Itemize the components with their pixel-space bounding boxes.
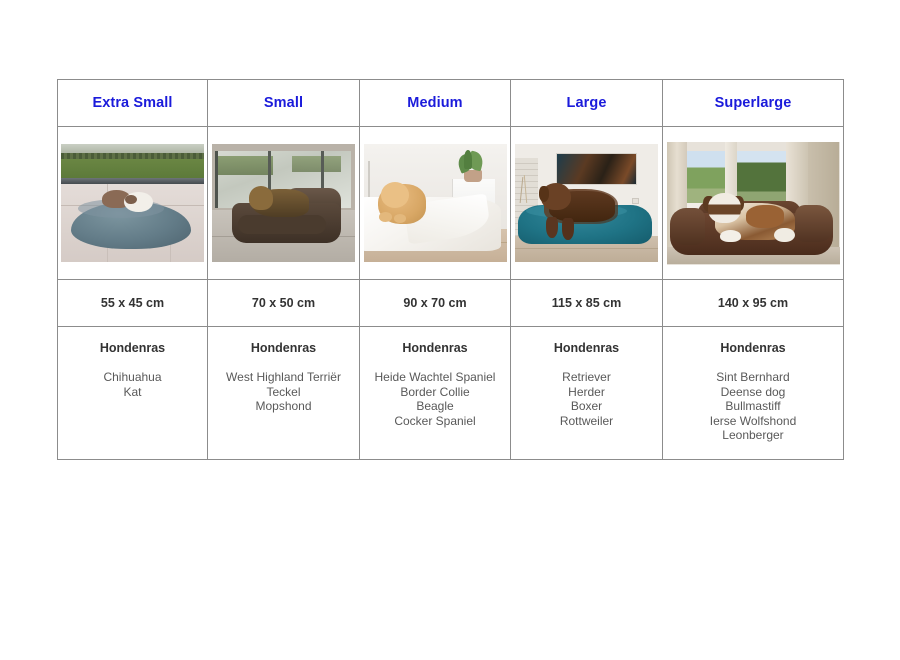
photo-dog-head — [249, 186, 273, 210]
product-photo-large — [515, 144, 658, 262]
photo-garden — [216, 156, 273, 175]
image-cell-extra-small — [58, 127, 208, 280]
dimensions-superlarge: 140 x 95 cm — [663, 296, 843, 310]
photo-hedge — [61, 153, 204, 159]
table-dimensions-row: 55 x 45 cm 70 x 50 cm 90 x 70 cm 115 x 8… — [58, 280, 844, 327]
photo-dog-head — [708, 193, 741, 223]
breed-item: Retriever — [511, 370, 662, 385]
breeds-title-superlarge: Hondenras — [663, 341, 843, 355]
breeds-title-extra-small: Hondenras — [58, 341, 207, 355]
breeds-cell-large: Hondenras Retriever Herder Boxer Rottwei… — [511, 327, 663, 460]
dimensions-cell-superlarge: 140 x 95 cm — [663, 280, 844, 327]
page-root: Extra Small Small Medium Large Superlarg… — [0, 0, 900, 660]
photo-sky — [61, 144, 204, 153]
dimensions-large: 115 x 85 cm — [511, 296, 662, 310]
image-cell-superlarge — [663, 127, 844, 280]
header-cell-medium: Medium — [360, 80, 511, 127]
breeds-cell-medium: Hondenras Heide Wachtel Spaniel Border C… — [360, 327, 511, 460]
breed-item: Deense dog — [663, 385, 843, 400]
breed-item: Herder — [511, 385, 662, 400]
dimensions-small: 70 x 50 cm — [208, 296, 359, 310]
photo-window — [736, 151, 788, 203]
size-name-small: Small — [208, 96, 359, 111]
photo-garden — [292, 156, 341, 173]
breed-item: Sint Bernhard — [663, 370, 843, 385]
header-cell-large: Large — [511, 80, 663, 127]
breeds-cell-extra-small: Hondenras Chihuahua Kat — [58, 327, 208, 460]
photo-window-frame — [215, 151, 218, 208]
size-name-superlarge: Superlarge — [663, 96, 843, 111]
product-photo-small — [212, 144, 355, 262]
image-cell-large — [511, 127, 663, 280]
dimensions-extra-small: 55 x 45 cm — [58, 296, 207, 310]
breed-item: Mopshond — [208, 399, 359, 414]
breeds-title-small: Hondenras — [208, 341, 359, 355]
breed-item: West Highland Terriër — [208, 370, 359, 385]
photo-wall-art — [556, 153, 636, 185]
photo-dog-paw — [720, 230, 741, 242]
photo-dog-head — [381, 182, 410, 208]
image-cell-medium — [360, 127, 511, 280]
breeds-title-medium: Hondenras — [360, 341, 510, 355]
breed-item: Beagle — [360, 399, 510, 414]
breed-item: Bullmastiff — [663, 399, 843, 414]
breed-item: Teckel — [208, 385, 359, 400]
header-cell-superlarge: Superlarge — [663, 80, 844, 127]
size-name-extra-small: Extra Small — [58, 96, 207, 111]
photo-dog-paw — [774, 228, 795, 243]
photo-dog-bed-arm — [670, 208, 705, 245]
dog-bed-size-table: Extra Small Small Medium Large Superlarg… — [57, 79, 844, 460]
breeds-title-large: Hondenras — [511, 341, 662, 355]
breed-item: Leonberger — [663, 428, 843, 443]
table-image-row — [58, 127, 844, 280]
size-name-medium: Medium — [360, 96, 510, 111]
photo-plant-pot — [464, 170, 483, 182]
breed-item: Cocker Spaniel — [360, 414, 510, 429]
breed-item: Border Collie — [360, 385, 510, 400]
dimensions-cell-large: 115 x 85 cm — [511, 280, 663, 327]
breeds-cell-superlarge: Hondenras Sint Bernhard Deense dog Bullm… — [663, 327, 844, 460]
table-breeds-row: Hondenras Chihuahua Kat Hondenras West H… — [58, 327, 844, 460]
dimensions-cell-extra-small: 55 x 45 cm — [58, 280, 208, 327]
photo-dog-leg — [562, 218, 573, 239]
breed-item: Chihuahua — [58, 370, 207, 385]
header-cell-small: Small — [208, 80, 360, 127]
photo-dog-patch — [125, 195, 136, 204]
dimensions-cell-medium: 90 x 70 cm — [360, 280, 511, 327]
dimensions-medium: 90 x 70 cm — [360, 296, 510, 310]
image-cell-small — [208, 127, 360, 280]
photo-wall-socket — [632, 198, 639, 204]
breed-item: Rottweiler — [511, 414, 662, 429]
photo-plant-leaf — [464, 150, 473, 169]
breed-item: Ierse Wolfshond — [663, 414, 843, 429]
photo-dog-patch — [746, 205, 784, 227]
photo-dog-paw — [379, 212, 392, 221]
product-photo-medium — [364, 144, 507, 262]
photo-dog-bed-arm — [795, 205, 833, 242]
photo-floor-line — [515, 248, 658, 249]
product-photo-extra-small — [61, 144, 204, 262]
breed-item: Boxer — [511, 399, 662, 414]
dimensions-cell-small: 70 x 50 cm — [208, 280, 360, 327]
breeds-cell-small: Hondenras West Highland Terriër Teckel M… — [208, 327, 360, 460]
table-header-row: Extra Small Small Medium Large Superlarg… — [58, 80, 844, 127]
breed-item: Heide Wachtel Spaniel — [360, 370, 510, 385]
size-name-large: Large — [511, 96, 662, 111]
photo-dog-bed-cushion — [238, 215, 327, 234]
product-photo-superlarge — [667, 142, 840, 265]
breed-item: Kat — [58, 385, 207, 400]
header-cell-extra-small: Extra Small — [58, 80, 208, 127]
